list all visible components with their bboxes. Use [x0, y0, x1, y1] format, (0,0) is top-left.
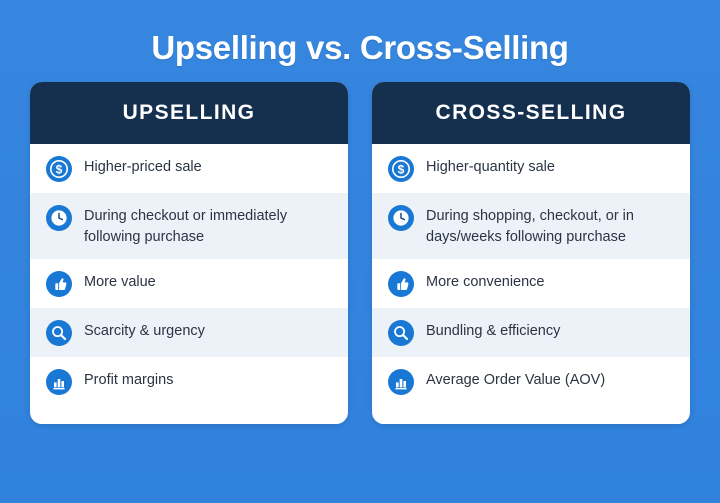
list-item-label: Average Order Value (AOV) [426, 368, 605, 391]
cross-selling-card-header: CROSS-SELLING [372, 82, 690, 144]
list-item-label: Bundling & efficiency [426, 319, 560, 342]
magnifying-glass-icon [46, 320, 72, 346]
upselling-card-header: UPSELLING [30, 82, 348, 144]
clock-icon [46, 205, 72, 231]
list-item: During checkout or immediately following… [30, 193, 348, 259]
cross-selling-header-label: CROSS-SELLING [436, 101, 627, 125]
list-item: Profit margins [30, 357, 348, 406]
thumbs-up-icon [46, 271, 72, 297]
magnifying-glass-icon [388, 320, 414, 346]
list-item: Bundling & efficiency [372, 308, 690, 357]
card-bottom-spacer [30, 416, 348, 424]
list-item-label: Scarcity & urgency [84, 319, 205, 342]
list-item: Average Order Value (AOV) [372, 357, 690, 406]
comparison-columns: UPSELLING $ Higher-priced sale During ch… [0, 82, 720, 424]
cross-selling-card: CROSS-SELLING $ Higher-quantity sale Dur… [372, 82, 690, 424]
list-item: $ Higher-priced sale [30, 144, 348, 193]
card-bottom-spacer [372, 416, 690, 424]
list-item: More convenience [372, 259, 690, 308]
list-item-label: Higher-quantity sale [426, 155, 555, 178]
list-item-label: During shopping, checkout, or in days/we… [426, 204, 676, 248]
dollar-coin-icon: $ [388, 156, 414, 182]
dollar-coin-icon: $ [46, 156, 72, 182]
list-item: More value [30, 259, 348, 308]
list-item-label: Profit margins [84, 368, 173, 391]
list-item-label: More value [84, 270, 156, 293]
list-item-label: More convenience [426, 270, 545, 293]
infographic-page: Upselling vs. Cross-Selling UPSELLING $ … [0, 0, 720, 503]
clock-icon [388, 205, 414, 231]
upselling-card: UPSELLING $ Higher-priced sale During ch… [30, 82, 348, 424]
page-title-container: Upselling vs. Cross-Selling [0, 0, 720, 82]
list-item: During shopping, checkout, or in days/we… [372, 193, 690, 259]
list-item: $ Higher-quantity sale [372, 144, 690, 193]
list-item-label: During checkout or immediately following… [84, 204, 334, 248]
svg-text:$: $ [56, 163, 63, 177]
bar-chart-icon [388, 369, 414, 395]
svg-text:$: $ [398, 163, 405, 177]
thumbs-up-icon [388, 271, 414, 297]
upselling-header-label: UPSELLING [123, 101, 256, 125]
bar-chart-icon [46, 369, 72, 395]
list-item-label: Higher-priced sale [84, 155, 202, 178]
upselling-row-list: $ Higher-priced sale During checkout or … [30, 144, 348, 416]
cross-selling-row-list: $ Higher-quantity sale During shopping, … [372, 144, 690, 416]
list-item: Scarcity & urgency [30, 308, 348, 357]
page-title: Upselling vs. Cross-Selling [0, 30, 720, 66]
